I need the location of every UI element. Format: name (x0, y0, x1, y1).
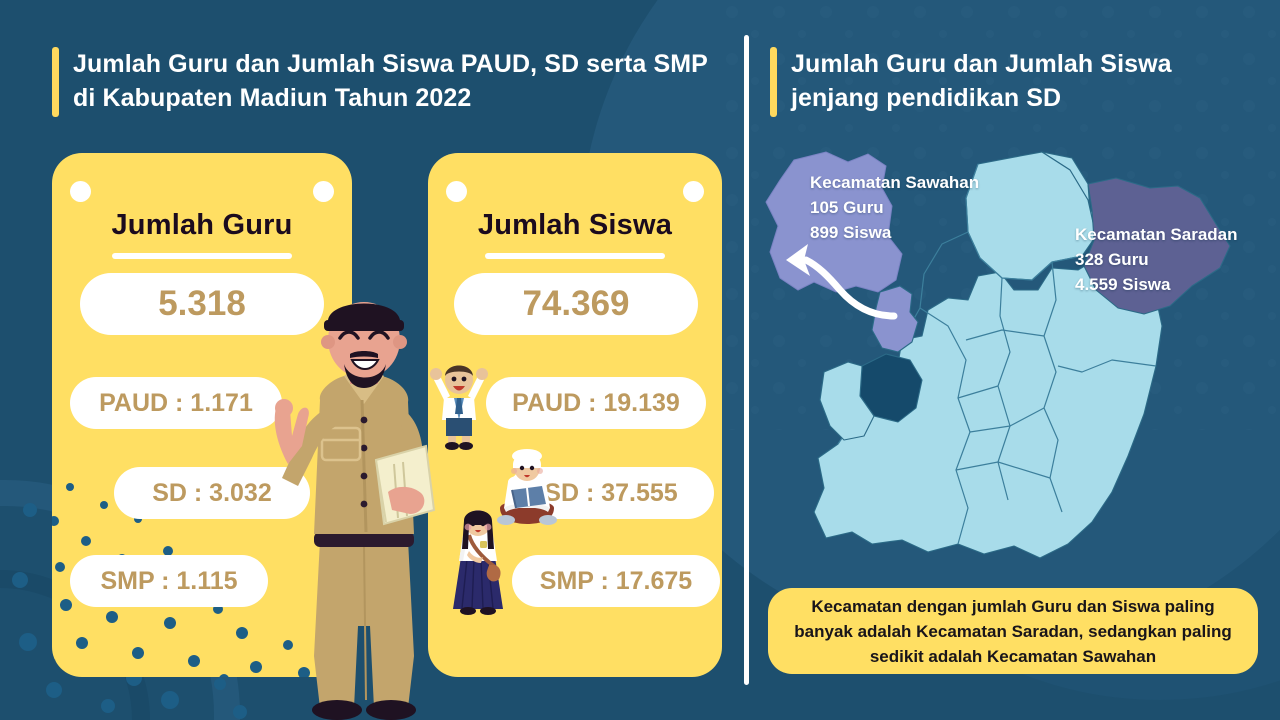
card-title-rule (112, 253, 292, 259)
caption-text: Kecamatan dengan jumlah Guru dan Siswa p… (786, 594, 1240, 669)
guru-total-value: 5.318 (158, 284, 246, 324)
infographic-canvas: Jumlah Guru dan Jumlah Siswa PAUD, SD se… (0, 0, 1280, 720)
siswa-paud-pill: PAUD : 19.139 (486, 377, 706, 429)
siswa-paud-value: PAUD : 19.139 (512, 389, 680, 418)
panel-divider (744, 35, 749, 685)
siswa-smp-value: SMP : 17.675 (540, 567, 692, 596)
right-panel-header: Jumlah Guru dan Jumlah Siswa jenjang pen… (770, 47, 1240, 117)
saradan-name: Kecamatan Saradan (1075, 222, 1238, 247)
siswa-total-pill: 74.369 (454, 273, 698, 335)
map-label-sawahan: Kecamatan Sawahan 105 Guru 899 Siswa (810, 170, 979, 245)
card-hole-left (70, 181, 91, 202)
card-guru-title: Jumlah Guru (52, 209, 352, 242)
saradan-students: 4.559 Siswa (1075, 272, 1238, 297)
card-hole-right (683, 181, 704, 202)
guru-smp-value: SMP : 1.115 (100, 567, 237, 596)
header-accent-bar (770, 47, 777, 117)
map-label-saradan: Kecamatan Saradan 328 Guru 4.559 Siswa (1075, 222, 1238, 297)
left-panel-header: Jumlah Guru dan Jumlah Siswa PAUD, SD se… (52, 47, 712, 117)
siswa-total-value: 74.369 (522, 284, 629, 324)
left-panel-title: Jumlah Guru dan Jumlah Siswa PAUD, SD se… (73, 47, 712, 115)
student-girl-illustration (447, 505, 509, 617)
card-title-rule (485, 253, 665, 259)
student-cheering-illustration (424, 358, 494, 450)
guru-paud-pill: PAUD : 1.171 (70, 377, 282, 429)
card-hole-left (446, 181, 467, 202)
card-siswa-title: Jumlah Siswa (428, 209, 722, 242)
sawahan-name: Kecamatan Sawahan (810, 170, 979, 195)
right-panel-title: Jumlah Guru dan Jumlah Siswa jenjang pen… (791, 47, 1240, 115)
sawahan-students: 899 Siswa (810, 220, 979, 245)
guru-smp-pill: SMP : 1.115 (70, 555, 268, 607)
sawahan-teachers: 105 Guru (810, 195, 979, 220)
siswa-sd-value: SD : 37.555 (544, 479, 677, 508)
guru-paud-value: PAUD : 1.171 (99, 389, 253, 418)
card-hole-right (313, 181, 334, 202)
saradan-teachers: 328 Guru (1075, 247, 1238, 272)
map-summary-caption: Kecamatan dengan jumlah Guru dan Siswa p… (768, 588, 1258, 674)
siswa-smp-pill: SMP : 17.675 (512, 555, 720, 607)
header-accent-bar (52, 47, 59, 117)
guru-sd-value: SD : 3.032 (152, 479, 272, 508)
